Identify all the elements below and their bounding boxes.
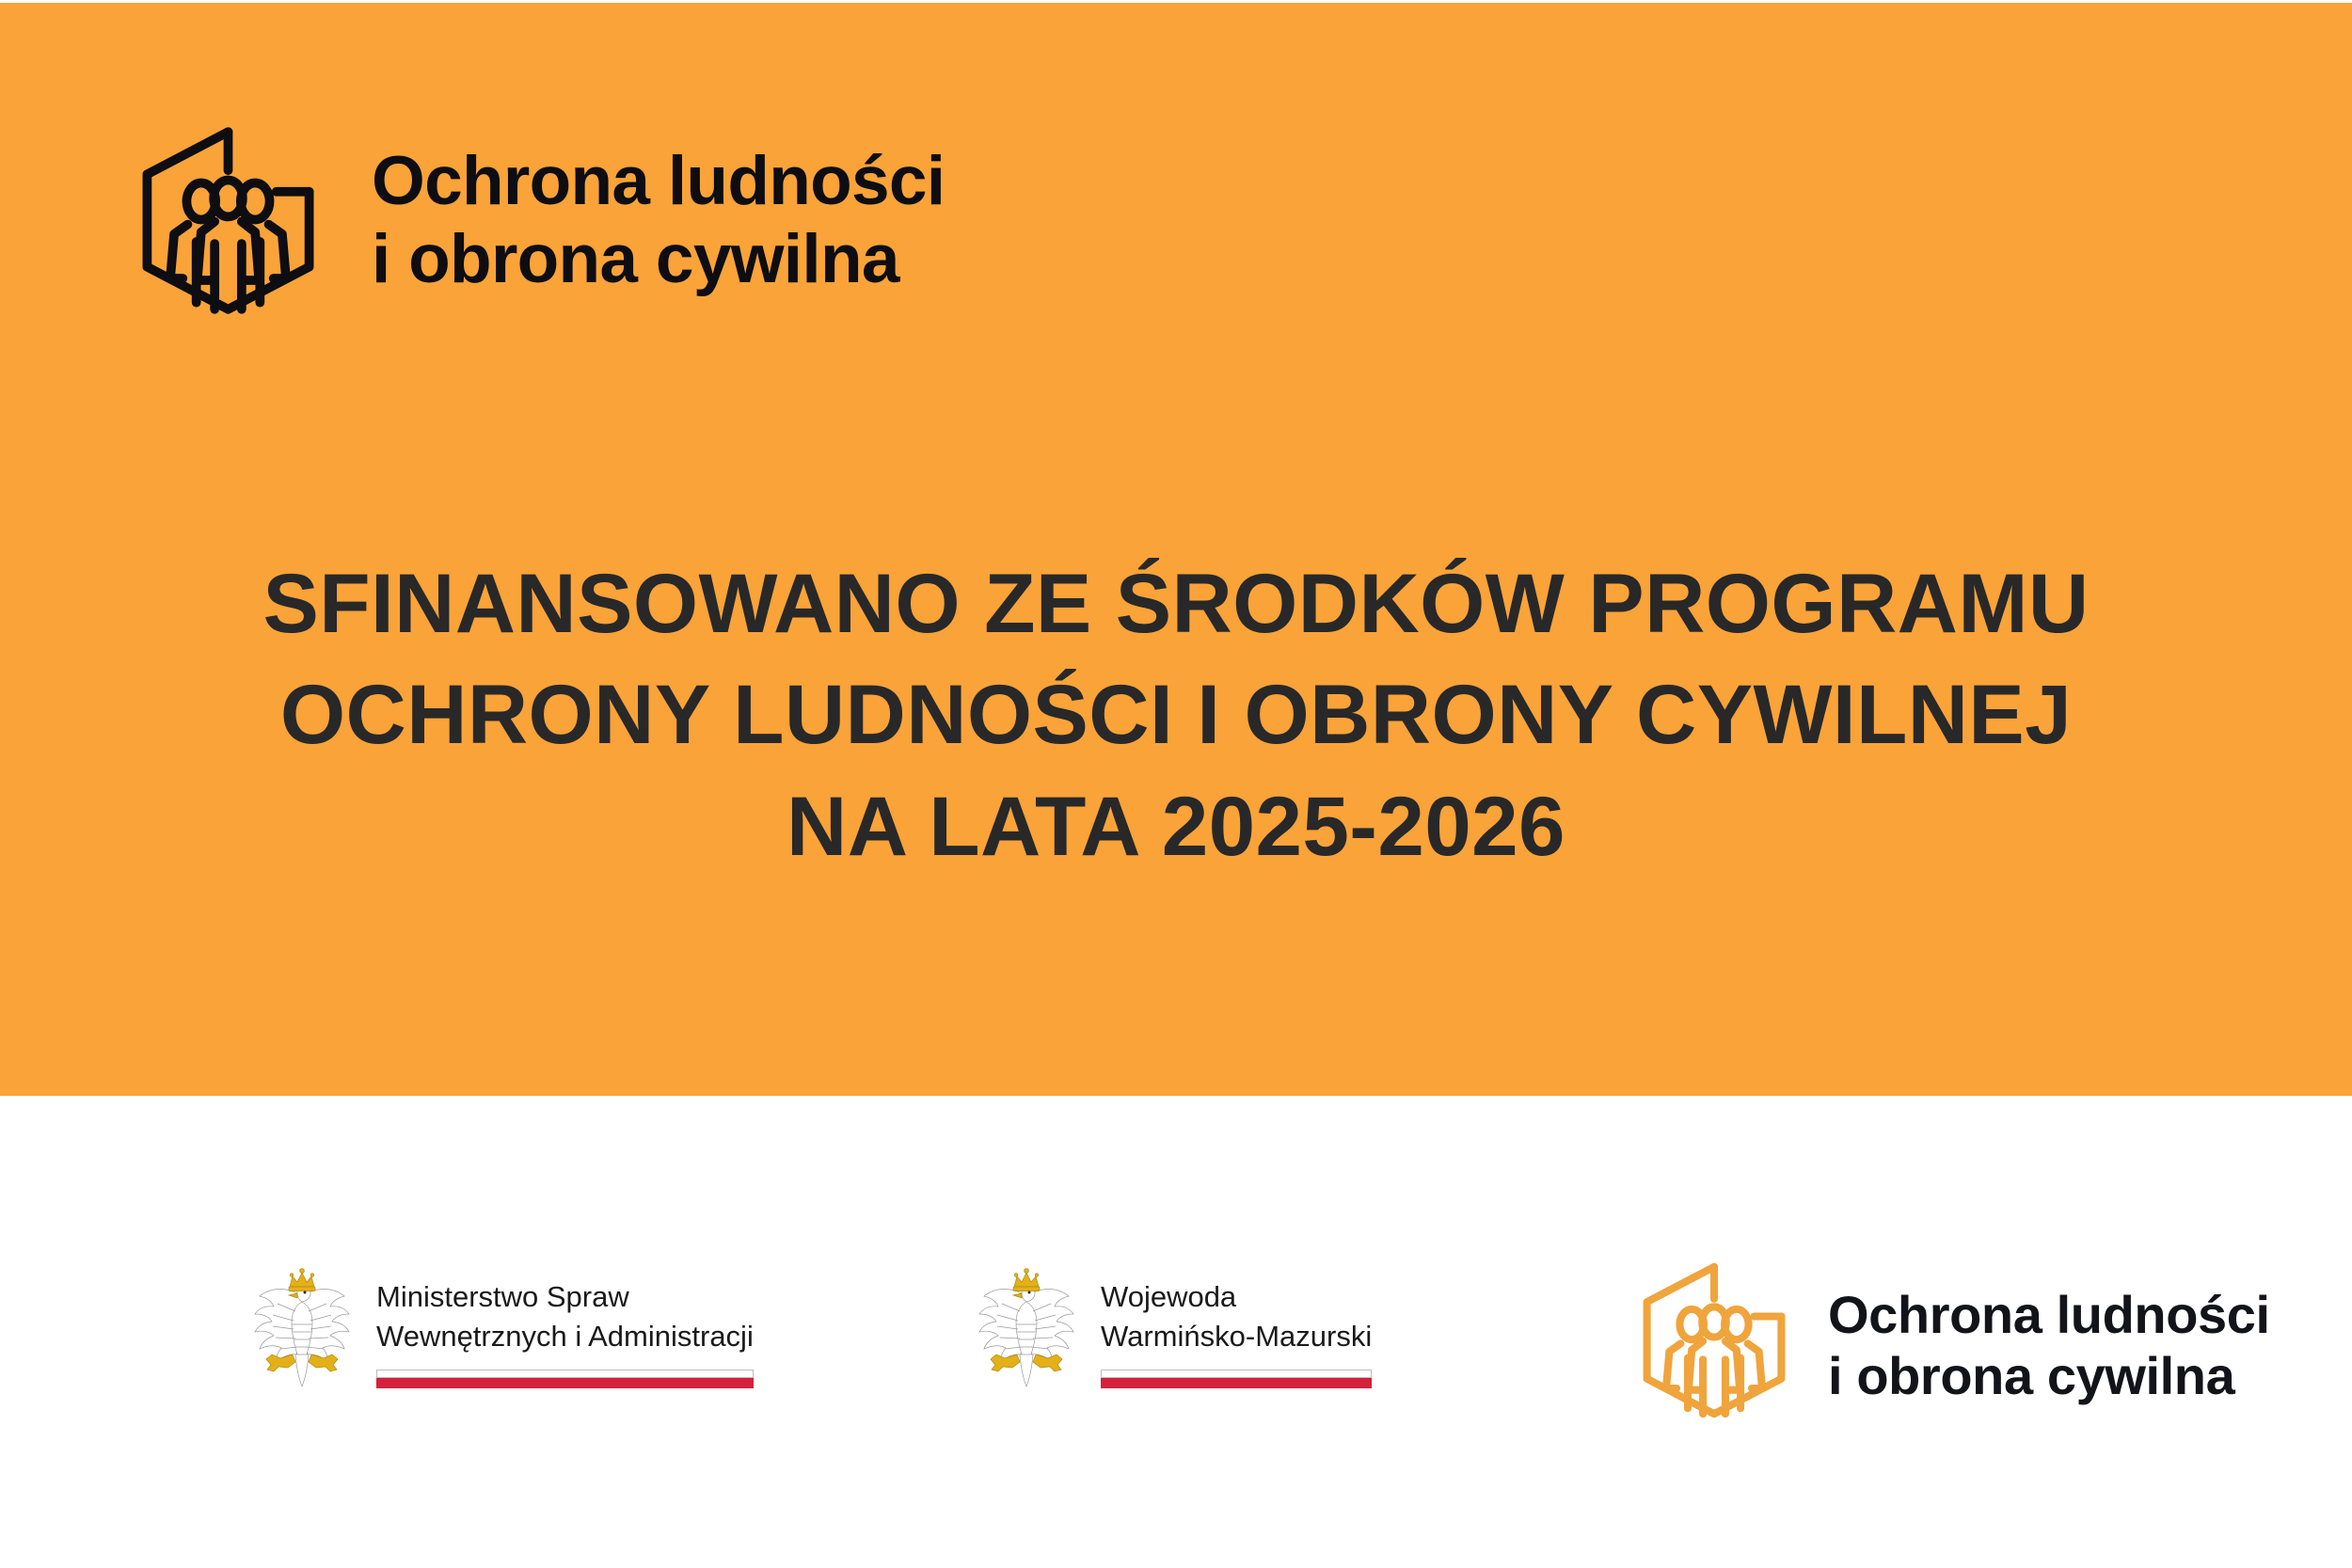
ochrona-ludnosci-wordmark: Ochrona ludności i obrona cywilna xyxy=(1828,1260,2270,1407)
ochrona-ludnosci-wordmark-line-2: i obrona cywilna xyxy=(1828,1346,2270,1407)
funding-statement-line-3: NA LATA 2025-2026 xyxy=(0,770,2352,881)
mswia-text-block: Ministerstwo Spraw Wewnętrznych i Admini… xyxy=(376,1268,754,1388)
flag-bar-white xyxy=(376,1370,754,1378)
wojewoda-title-line-1: Wojewoda xyxy=(1101,1277,1372,1317)
mswia-title-line-2: Wewnętrznych i Administracji xyxy=(376,1317,754,1356)
flag-bar-white xyxy=(1101,1370,1372,1378)
footer-logo-wojewoda: Wojewoda Warmińsko-Mazurski xyxy=(971,1268,1372,1392)
funding-statement-line-2: OCHRONY LUDNOŚCI I OBRONY CYWILNEJ xyxy=(0,658,2352,769)
mswia-title: Ministerstwo Spraw Wewnętrznych i Admini… xyxy=(376,1277,754,1357)
polish-eagle-emblem xyxy=(971,1268,1082,1392)
polish-flag-bar xyxy=(376,1370,754,1388)
header-wordmark-line-2: i obrona cywilna xyxy=(372,221,945,298)
footer-logo-ochrona-ludnosci: Ochrona ludności i obrona cywilna xyxy=(1634,1260,2270,1420)
wojewoda-title-line-2: Warmińsko-Mazurski xyxy=(1101,1317,1372,1356)
wojewoda-text-block: Wojewoda Warmińsko-Mazurski xyxy=(1101,1268,1372,1388)
flag-bar-red xyxy=(1101,1378,1372,1388)
polish-flag-bar xyxy=(1101,1370,1372,1388)
mswia-title-line-1: Ministerstwo Spraw xyxy=(376,1277,754,1317)
funding-statement-line-1: SFINANSOWANO ZE ŚRODKÓW PROGRAMU xyxy=(0,547,2352,658)
header-wordmark: Ochrona ludności i obrona cywilna xyxy=(372,143,945,298)
polish-eagle-emblem xyxy=(246,1268,358,1392)
ochrona-ludnosci-hexagon-people-icon xyxy=(132,124,325,317)
funding-statement: SFINANSOWANO ZE ŚRODKÓW PROGRAMU OCHRONY… xyxy=(0,547,2352,881)
header-brand-lockup: Ochrona ludności i obrona cywilna xyxy=(132,124,945,317)
ochrona-ludnosci-hexagon-people-icon xyxy=(1634,1260,1794,1420)
header-wordmark-line-1: Ochrona ludności xyxy=(372,143,945,220)
flag-bar-red xyxy=(376,1378,754,1388)
footer-logo-mswia: Ministerstwo Spraw Wewnętrznych i Admini… xyxy=(246,1268,754,1392)
wojewoda-title: Wojewoda Warmińsko-Mazurski xyxy=(1101,1277,1372,1357)
ochrona-ludnosci-wordmark-line-1: Ochrona ludności xyxy=(1828,1285,2270,1346)
